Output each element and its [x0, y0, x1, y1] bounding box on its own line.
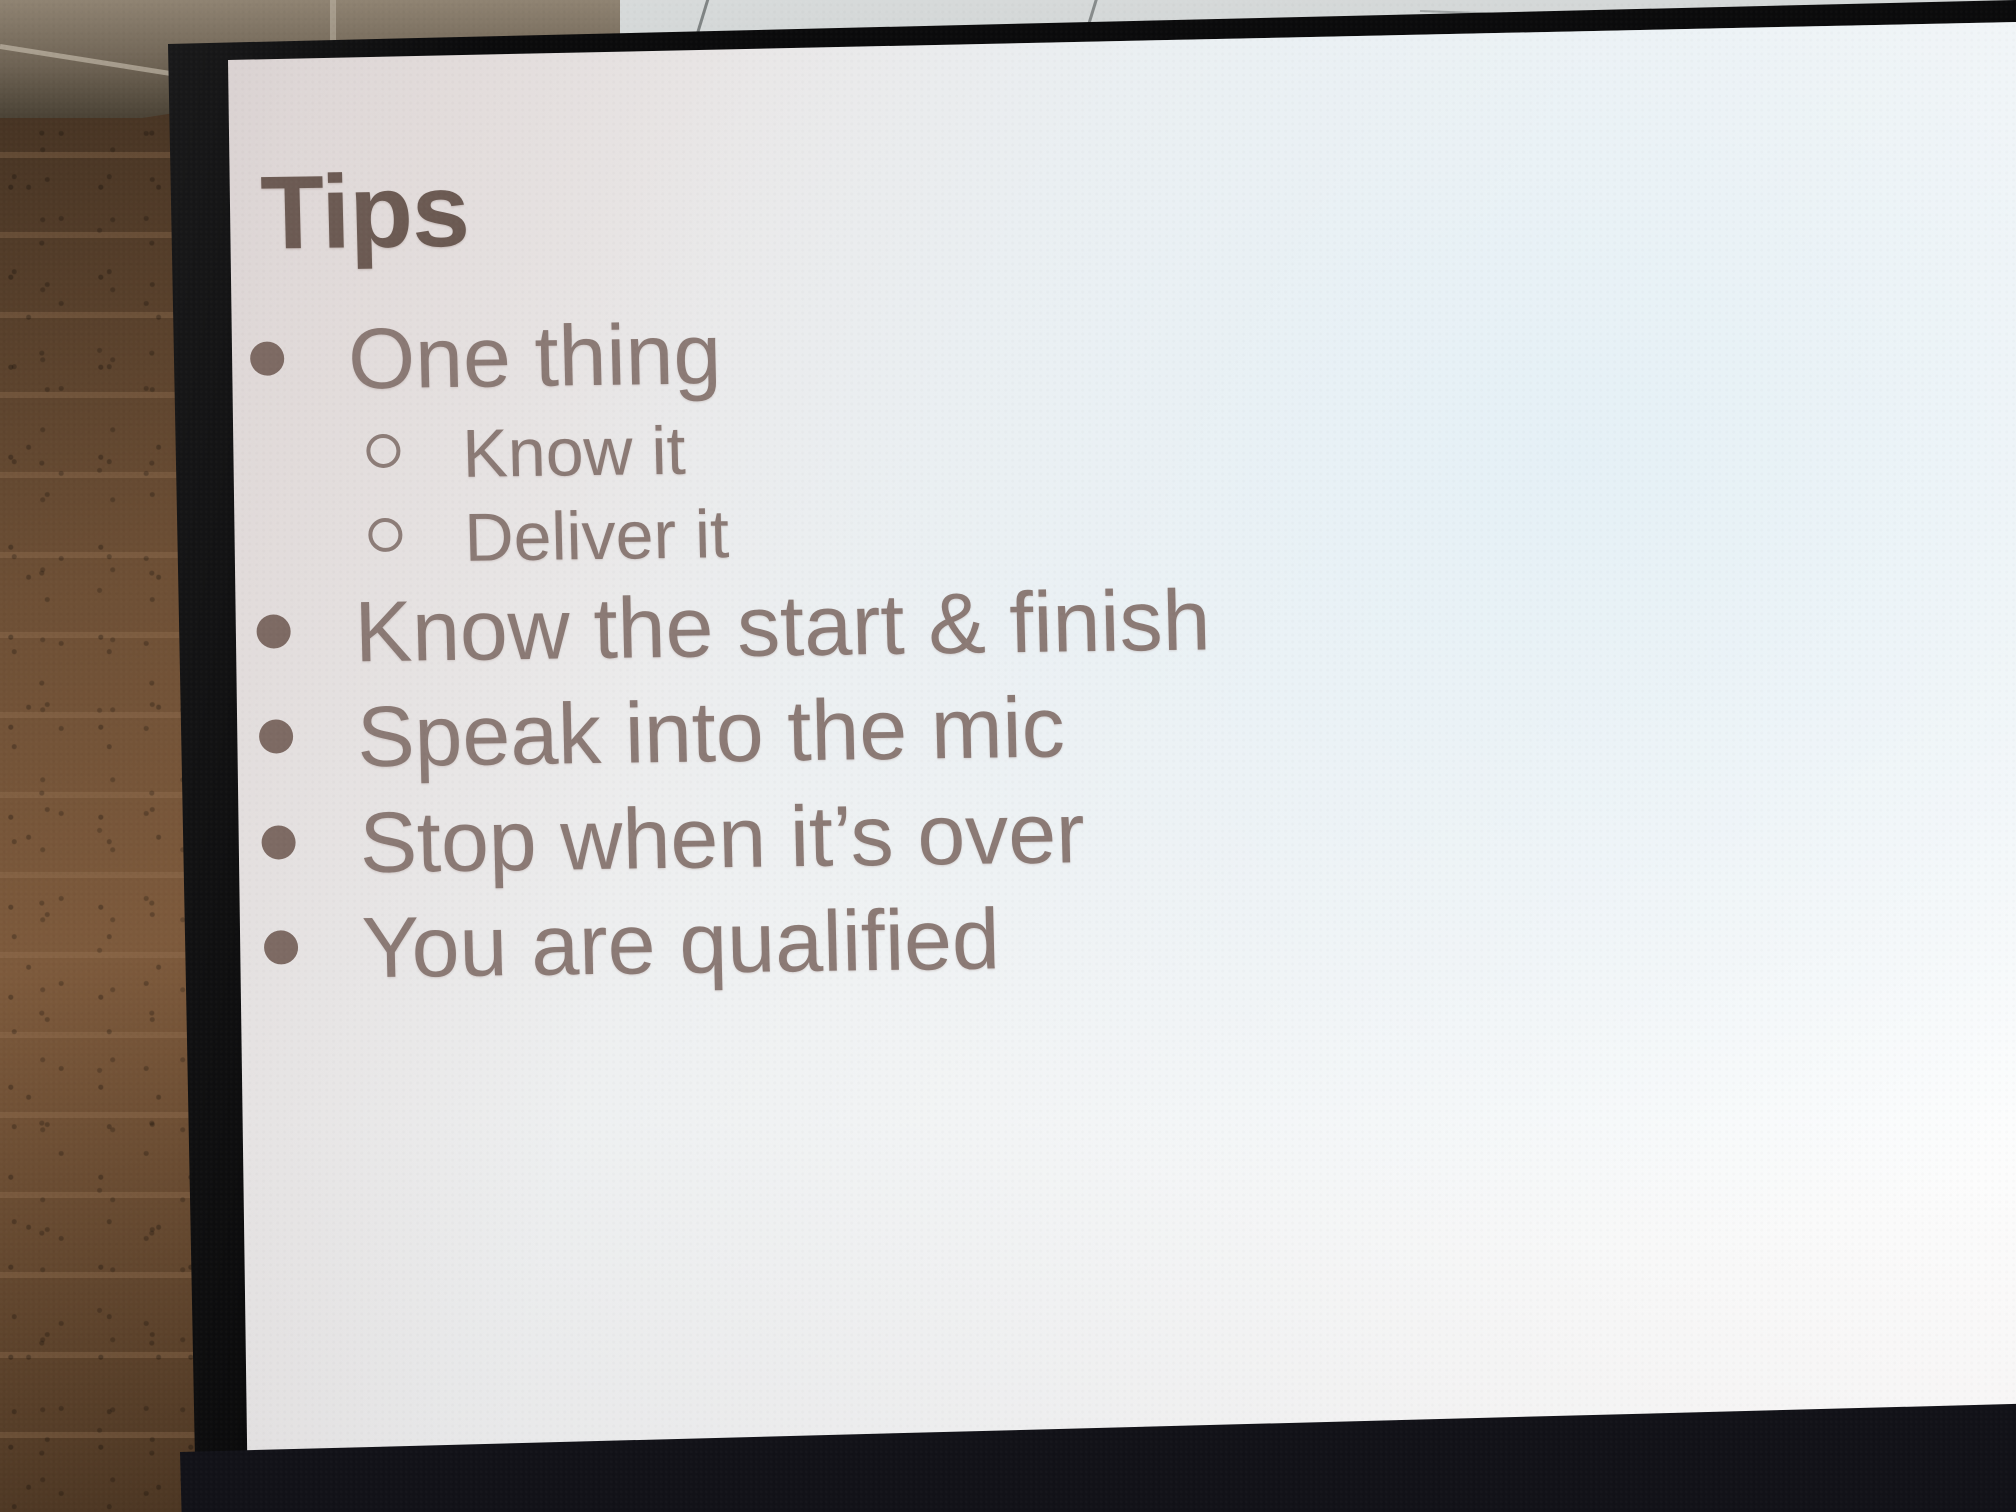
hollow-circle-bullet-icon	[368, 518, 403, 552]
bullet-item: You are qualified	[255, 881, 1957, 996]
filled-circle-bullet-icon	[264, 930, 299, 964]
slide-title: Tips	[260, 159, 470, 266]
filled-circle-bullet-icon	[261, 825, 296, 859]
sub-bullet-item: Deliver it	[246, 481, 1948, 577]
bullet-item: One thing	[241, 292, 1943, 407]
bullet-text: Speak into the mic	[356, 683, 1066, 784]
slide-bullet-list: One thing Know it Deliver it Know the st…	[241, 292, 1957, 1009]
sub-bullet-item: Know it	[244, 397, 1946, 493]
bullet-text: Stop when it’s over	[359, 788, 1086, 889]
filled-circle-bullet-icon	[250, 341, 285, 375]
bullet-item: Know the start & finish	[248, 565, 1950, 680]
slide-content: Tips One thing Know it Deliver it Know t…	[236, 72, 1988, 1456]
sub-bullet-text: Know it	[462, 415, 687, 490]
sub-bullet-text: Deliver it	[464, 498, 730, 574]
bullet-text: Know the start & finish	[354, 576, 1212, 679]
screenshot-root: Tips One thing Know it Deliver it Know t…	[0, 0, 2016, 1512]
bullet-item: Speak into the mic	[250, 671, 1952, 786]
filled-circle-bullet-icon	[256, 615, 291, 649]
filled-circle-bullet-icon	[259, 720, 294, 754]
bullet-text: You are qualified	[361, 894, 1001, 994]
hollow-circle-bullet-icon	[366, 434, 401, 468]
bullet-text: One thing	[347, 309, 722, 405]
bullet-item: Stop when it’s over	[253, 776, 1955, 891]
